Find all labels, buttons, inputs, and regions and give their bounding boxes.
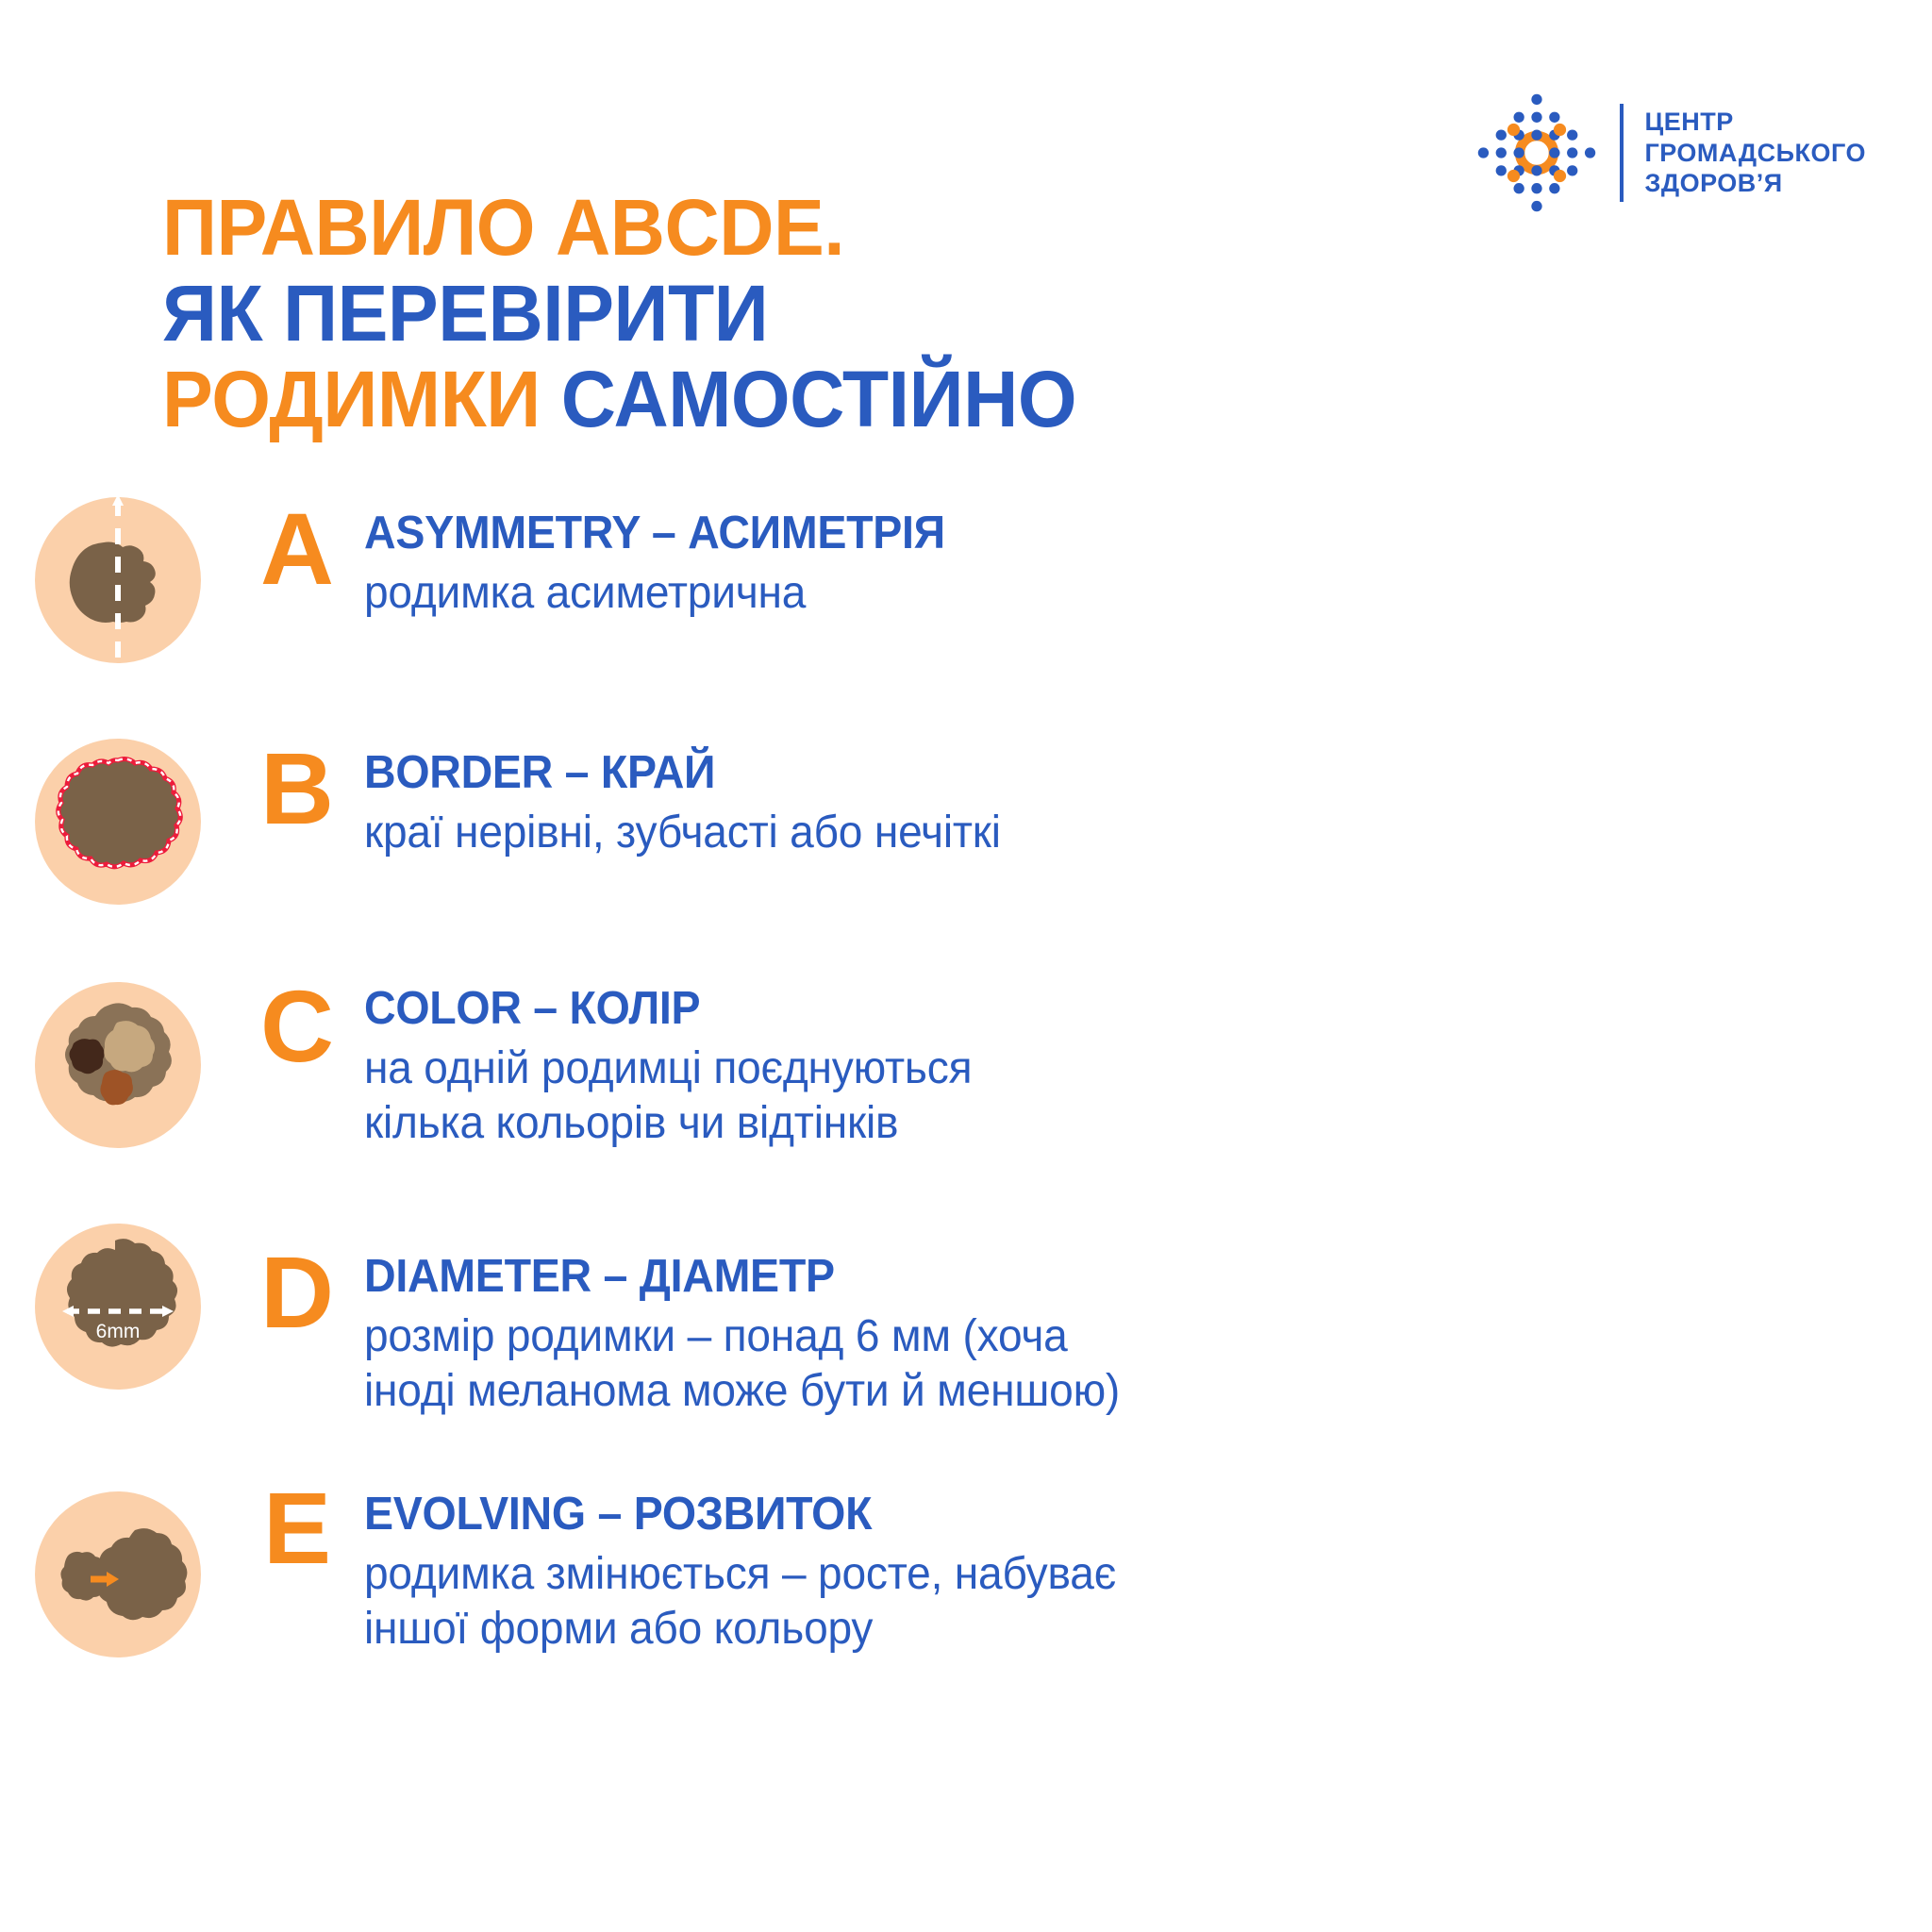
rule-letter-c: C: [236, 975, 358, 1077]
rule-icon-wrapper-evolving: [0, 1468, 236, 1664]
rule-desc-color: на одній родимці поєднуються кілька коль…: [364, 1041, 1870, 1151]
rule-desc-asymmetry: родимка асиметрична: [364, 566, 1870, 621]
rule-row-color: C COLOR – КОЛІР на одній родимці поєдную…: [0, 970, 1932, 1155]
brand-logo: ЦЕНТР ГРОМАДСЬКОГО ЗДОРОВ’Я: [1474, 91, 1866, 215]
rule-body-diameter: DIAMETER – ДІАМЕТР розмір родимки – пона…: [358, 1251, 1932, 1419]
rule-title-asymmetry: ASYMMETRY – АСИМЕТРІЯ: [364, 508, 1854, 559]
mole-diameter-icon: 6mm: [28, 1217, 208, 1396]
mole-border-icon: [28, 732, 208, 911]
rule-body-asymmetry: ASYMMETRY – АСИМЕТРІЯ родимка асиметричн…: [358, 508, 1932, 621]
rule-icon-wrapper-diameter: 6mm: [0, 1202, 236, 1396]
title-line-3-orange: РОДИМКИ: [162, 355, 561, 443]
rule-body-evolving: EVOLVING – РОЗВИТОК родимка змінюється –…: [358, 1489, 1932, 1657]
rule-icon-wrapper-asymmetry: [0, 491, 236, 670]
rule-letter-a: A: [236, 498, 358, 600]
mole-color-icon: [28, 975, 208, 1155]
rule-title-evolving: EVOLVING – РОЗВИТОК: [364, 1489, 1854, 1541]
rule-title-color: COLOR – КОЛІР: [364, 983, 1854, 1035]
cphc-dots-ring-logo-icon: [1474, 91, 1599, 215]
rule-title-border: BORDER – КРАЙ: [364, 747, 1854, 799]
abcde-rule-list: A ASYMMETRY – АСИМЕТРІЯ родимка асиметри…: [0, 491, 1932, 1664]
mole-evolving-icon: [28, 1485, 208, 1664]
rule-row-evolving: E EVOLVING – РОЗВИТОК родимка змінюється…: [0, 1468, 1932, 1664]
page-title: ПРАВИЛО ABCDE. ЯК ПЕРЕВІРИТИ РОДИМКИ САМ…: [162, 185, 1076, 441]
rule-row-border: B BORDER – КРАЙ краї нерівні, зубчасті а…: [0, 732, 1932, 911]
title-line-3-blue: САМОСТІЙНО: [561, 355, 1076, 443]
brand-name: ЦЕНТР ГРОМАДСЬКОГО ЗДОРОВ’Я: [1644, 107, 1866, 200]
rule-letter-b: B: [236, 738, 358, 840]
rule-title-diameter: DIAMETER – ДІАМЕТР: [364, 1251, 1854, 1303]
rule-desc-evolving: родимка змінюється – росте, набуває іншо…: [364, 1547, 1870, 1657]
rule-desc-diameter: розмір родимки – понад 6 мм (хоча іноді …: [364, 1309, 1870, 1419]
rule-letter-e: E: [236, 1477, 358, 1579]
rule-icon-wrapper-color: [0, 970, 236, 1155]
rule-letter-d: D: [236, 1241, 358, 1343]
title-line-2: ЯК ПЕРЕВІРИТИ: [162, 271, 1076, 357]
rule-row-asymmetry: A ASYMMETRY – АСИМЕТРІЯ родимка асиметри…: [0, 491, 1932, 670]
rule-body-border: BORDER – КРАЙ краї нерівні, зубчасті або…: [358, 747, 1932, 860]
rule-desc-border: краї нерівні, зубчасті або нечіткі: [364, 806, 1870, 860]
title-line-1: ПРАВИЛО ABCDE.: [162, 185, 1076, 271]
diameter-label: 6mm: [96, 1321, 141, 1342]
title-line-3: РОДИМКИ САМОСТІЙНО: [162, 357, 1076, 442]
mole-asymmetry-icon: [28, 491, 208, 670]
logo-divider: [1620, 104, 1624, 202]
rule-icon-wrapper-border: [0, 732, 236, 911]
rule-body-color: COLOR – КОЛІР на одній родимці поєднують…: [358, 983, 1932, 1151]
rule-row-diameter: 6mm D DIAMETER – ДІАМЕТР розмір родимки …: [0, 1202, 1932, 1419]
